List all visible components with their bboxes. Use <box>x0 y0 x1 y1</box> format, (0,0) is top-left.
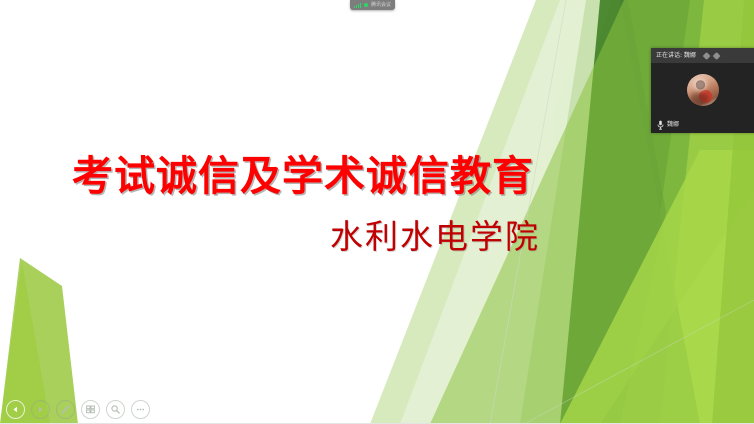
chevron-left-glyph <box>702 52 711 60</box>
slide-subtitle: 水利水电学院 <box>330 210 630 258</box>
triangle-right-icon <box>36 405 45 414</box>
pen-icon <box>60 404 71 415</box>
magnifier-icon <box>110 404 121 415</box>
video-panel-header: 正在讲话: 魏娜 <box>651 48 754 63</box>
video-panel-footer: 魏娜 <box>651 118 685 133</box>
next-slide-button[interactable] <box>31 400 50 419</box>
double-chevron-icon[interactable] <box>702 52 721 60</box>
pen-tools-button[interactable] <box>56 400 75 419</box>
grid-slides-icon <box>85 404 96 415</box>
video-panel-body: 魏娜 <box>651 63 754 133</box>
green-dot-icon <box>364 3 368 7</box>
triangle-left-icon <box>11 405 20 414</box>
chevron-right-glyph <box>712 52 721 60</box>
slideshow-toolbar <box>6 400 150 419</box>
more-options-button[interactable] <box>131 400 150 419</box>
meeting-status-bar[interactable]: 腾讯会议 <box>350 0 395 10</box>
slide-title: 考试诚信及学术诚信教育 <box>72 142 572 202</box>
meeting-video-panel[interactable]: 正在讲话: 魏娜 <box>651 48 754 133</box>
avatar-highlight <box>693 78 708 91</box>
microphone-icon[interactable] <box>657 120 664 130</box>
participant-name-label: 魏娜 <box>667 121 679 129</box>
meeting-status-label: 腾讯会议 <box>371 2 391 8</box>
previous-slide-button[interactable] <box>6 400 25 419</box>
zoom-slide-button[interactable] <box>106 400 125 419</box>
screen-root: 考试诚信及学术诚信教育 水利水电学院 <box>0 0 754 424</box>
ellipsis-icon <box>135 404 146 415</box>
active-speaker-label: 正在讲话: 魏娜 <box>656 52 696 60</box>
avatar <box>687 74 719 106</box>
signal-bars-icon <box>354 2 361 8</box>
all-slides-button[interactable] <box>81 400 100 419</box>
avatar-shadow <box>690 93 709 105</box>
